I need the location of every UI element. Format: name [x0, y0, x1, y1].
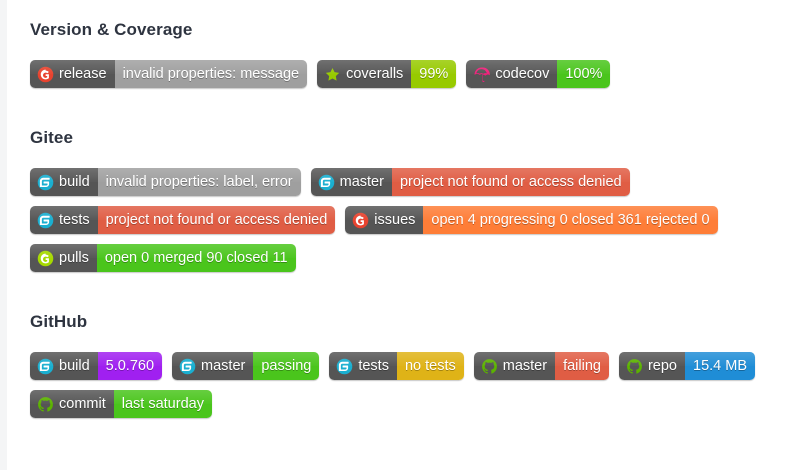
badge-label-text: issues [374, 206, 415, 234]
github-cat-icon [481, 358, 498, 375]
badge-value: open 0 merged 90 closed 11 [97, 244, 296, 272]
badge-label-group: master [172, 352, 253, 380]
section-version-coverage: Version & Coveragereleaseinvalid propert… [30, 0, 785, 98]
section-title-version-coverage: Version & Coverage [30, 20, 785, 40]
badge-value: open 4 progressing 0 closed 361 rejected… [423, 206, 717, 234]
star-icon [324, 66, 341, 83]
badge-github-tests[interactable]: testsno tests [329, 352, 463, 380]
gitee-g-icon [37, 66, 54, 83]
badge-label-group: tests [329, 352, 397, 380]
badge-gitee-issues[interactable]: issuesopen 4 progressing 0 closed 361 re… [345, 206, 717, 234]
gitee-circle-icon [318, 174, 335, 191]
gitee-circle-icon [179, 358, 196, 375]
badge-rows-gitee: buildinvalid properties: label, errormas… [30, 168, 785, 282]
badge-github-commit[interactable]: commitlast saturday [30, 390, 212, 418]
badge-label-text: coveralls [346, 60, 403, 88]
badge-row: releaseinvalid properties: messagecovera… [30, 60, 785, 98]
badge-value: 100% [557, 60, 610, 88]
section-gitee: Giteebuildinvalid properties: label, err… [30, 98, 785, 282]
badge-value: no tests [397, 352, 464, 380]
badge-value: 99% [411, 60, 456, 88]
badge-label-group: master [474, 352, 555, 380]
badge-gitee-pulls[interactable]: pullsopen 0 merged 90 closed 11 [30, 244, 296, 272]
badge-label-group: codecov [466, 60, 557, 88]
badge-value: project not found or access denied [392, 168, 630, 196]
badge-version-coverage-coveralls[interactable]: coveralls99% [317, 60, 456, 88]
badge-label-text: repo [648, 352, 677, 380]
badge-label-text: build [59, 168, 90, 196]
badge-label-text: tests [59, 206, 90, 234]
codecov-umbrella-icon [473, 66, 490, 83]
badge-label-group: commit [30, 390, 114, 418]
page-root: Version & Coveragereleaseinvalid propert… [0, 0, 793, 470]
badge-label-group: coveralls [317, 60, 411, 88]
badge-row: build5.0.760masterpassingtestsno testsma… [30, 352, 785, 390]
badge-label-text: commit [59, 390, 106, 418]
badge-gitee-build[interactable]: buildinvalid properties: label, error [30, 168, 301, 196]
badge-version-coverage-codecov[interactable]: codecov100% [466, 60, 610, 88]
badge-github-master[interactable]: masterpassing [172, 352, 319, 380]
badge-value: last saturday [114, 390, 212, 418]
badge-label-text: build [59, 352, 90, 380]
badge-github-build[interactable]: build5.0.760 [30, 352, 162, 380]
badge-value: 15.4 MB [685, 352, 755, 380]
badge-board: Version & Coveragereleaseinvalid propert… [30, 0, 785, 428]
gitee-g-icon [37, 250, 54, 267]
badge-version-coverage-release[interactable]: releaseinvalid properties: message [30, 60, 307, 88]
badge-label-text: master [201, 352, 245, 380]
gitee-circle-icon [37, 358, 54, 375]
badge-label-group: issues [345, 206, 423, 234]
section-title-gitee: Gitee [30, 128, 785, 148]
left-edge-strip [0, 0, 7, 470]
badge-label-text: pulls [59, 244, 89, 272]
badge-label-text: tests [358, 352, 389, 380]
badge-label-group: repo [619, 352, 685, 380]
badge-row: pullsopen 0 merged 90 closed 11 [30, 244, 785, 282]
badge-value: passing [253, 352, 319, 380]
badge-value: invalid properties: message [115, 60, 308, 88]
badge-label-text: master [340, 168, 384, 196]
gitee-circle-icon [37, 212, 54, 229]
badge-label-text: release [59, 60, 107, 88]
badge-label-group: build [30, 352, 98, 380]
badge-gitee-tests[interactable]: testsproject not found or access denied [30, 206, 335, 234]
gitee-g-icon [352, 212, 369, 229]
gitee-circle-icon [37, 174, 54, 191]
badge-label-group: master [311, 168, 392, 196]
badge-github-master[interactable]: masterfailing [474, 352, 609, 380]
badge-row: testsproject not found or access deniedi… [30, 206, 785, 244]
badge-value: invalid properties: label, error [98, 168, 301, 196]
badge-label-group: build [30, 168, 98, 196]
badge-value: failing [555, 352, 609, 380]
badge-label-group: pulls [30, 244, 97, 272]
badge-row: buildinvalid properties: label, errormas… [30, 168, 785, 206]
badge-gitee-master[interactable]: masterproject not found or access denied [311, 168, 630, 196]
badge-github-repo[interactable]: repo15.4 MB [619, 352, 755, 380]
badge-rows-github: build5.0.760masterpassingtestsno testsma… [30, 352, 785, 428]
badge-value: 5.0.760 [98, 352, 162, 380]
badge-row: commitlast saturday [30, 390, 785, 428]
badge-label-group: release [30, 60, 115, 88]
section-github: GitHubbuild5.0.760masterpassingtestsno t… [30, 282, 785, 428]
badge-label-text: codecov [495, 60, 549, 88]
badge-rows-version-coverage: releaseinvalid properties: messagecovera… [30, 60, 785, 98]
gitee-circle-icon [336, 358, 353, 375]
badge-label-group: tests [30, 206, 98, 234]
github-cat-icon [37, 396, 54, 413]
badge-label-text: master [503, 352, 547, 380]
github-cat-icon [626, 358, 643, 375]
section-title-github: GitHub [30, 312, 785, 332]
badge-value: project not found or access denied [98, 206, 336, 234]
